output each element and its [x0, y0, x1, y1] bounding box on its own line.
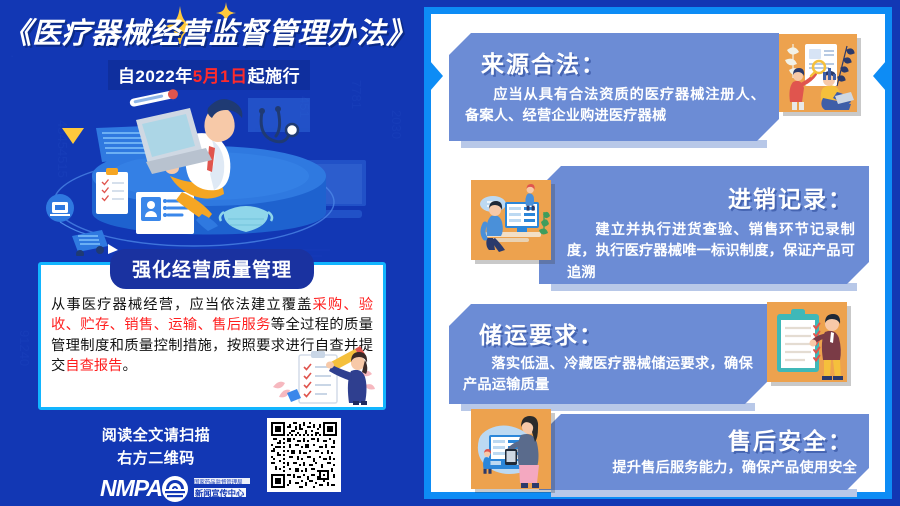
provision-card-purchase-sales-record[interactable]: 进销记录： 建立并执行进货查验、销售环节记录制度，执行医疗器械唯一标识制度，保证… — [539, 166, 869, 284]
scan-line-1: 阅读全文请扫描 — [66, 424, 246, 447]
card-thumbnail-service-agent — [471, 409, 551, 489]
provision-card-source-legal[interactable]: 来源合法： 应当从具有合法资质的医疗器械注册人、备案人、经营企业购进医疗器械 — [449, 33, 779, 141]
provisions-panel: 来源合法： 应当从具有合法资质的医疗器械注册人、备案人、经营企业购进医疗器械 — [424, 7, 892, 499]
card-text: 落实低温、冷藏医疗器械储运要求，确保产品运输质量 — [463, 354, 753, 397]
quality-card-badge: 强化经营质量管理 — [110, 249, 314, 289]
card-text: 提升售后服务能力，确保产品使用安全 — [567, 458, 857, 479]
checklist-illustration — [269, 343, 377, 405]
logo-sub-line-2: 新闻宣传中心 — [195, 488, 245, 498]
chevron-right-icon — [430, 61, 443, 91]
logo-sub-line-1: 国家药品监督管理局 — [194, 478, 243, 486]
page-title: 《医疗器械经营监督管理办法》 — [0, 10, 418, 52]
provision-card-list: 来源合法： 应当从具有合法资质的医疗器械注册人、备案人、经营企业购进医疗器械 — [431, 14, 885, 492]
title-block: 《医疗器械经营监督管理办法》 自2022年5月1日起施行 — [0, 10, 418, 90]
provision-card-storage-transport[interactable]: 储运要求： 落实低温、冷藏医疗器械储运要求，确保产品运输质量 — [449, 304, 767, 404]
left-column: 《医疗器械经营监督管理办法》 自2022年5月1日起施行 — [0, 0, 418, 506]
qr-code[interactable] — [267, 418, 341, 492]
svg-text:NMPA: NMPA — [100, 475, 162, 501]
card-text: 应当从具有合法资质的医疗器械注册人、备案人、经营企业购进医疗器械 — [465, 85, 765, 128]
scan-instruction: 阅读全文请扫描 右方二维码 — [66, 424, 246, 471]
card-title: 进销记录： — [728, 180, 853, 214]
scan-line-2: 右方二维码 — [66, 447, 246, 470]
card-text: 建立并执行进货查验、销售环节记录制度，执行医疗器械唯一标识制度，保证产品可追溯 — [567, 220, 855, 284]
hero-illustration — [26, 84, 398, 256]
quality-text-run-5: 。 — [122, 358, 136, 374]
card-shadow — [551, 283, 857, 291]
card-thumbnail-doctor-tablet — [779, 34, 857, 112]
chevron-left-icon — [873, 61, 886, 91]
card-title: 储运要求： — [479, 316, 604, 350]
card-shadow — [551, 489, 857, 497]
quality-text-run-4: 自查报告 — [65, 358, 122, 374]
card-title: 来源合法： — [481, 45, 606, 79]
provision-card-after-sales-safety[interactable]: 售后安全： 提升售后服务能力，确保产品使用安全 — [539, 414, 869, 490]
quality-management-card: 强化经营质量管理 从事医疗器械经营，应当依法建立覆盖采购、验收、贮存、销售、运输… — [38, 262, 386, 410]
quality-text-run-1: 从事医疗器械经营，应当依法建立覆盖 — [51, 297, 313, 313]
card-thumbnail-person-computer — [471, 180, 551, 260]
infographic-poster: 45454515 3032 451 7781 2030 15403180 912… — [0, 0, 900, 506]
footer-block: 阅读全文请扫描 右方二维码 — [0, 414, 418, 506]
card-shadow — [461, 140, 767, 148]
card-thumbnail-clipboard-inspector — [767, 302, 847, 382]
card-title: 售后安全： — [728, 422, 853, 456]
nmpa-logo: NMPA — [100, 472, 260, 504]
